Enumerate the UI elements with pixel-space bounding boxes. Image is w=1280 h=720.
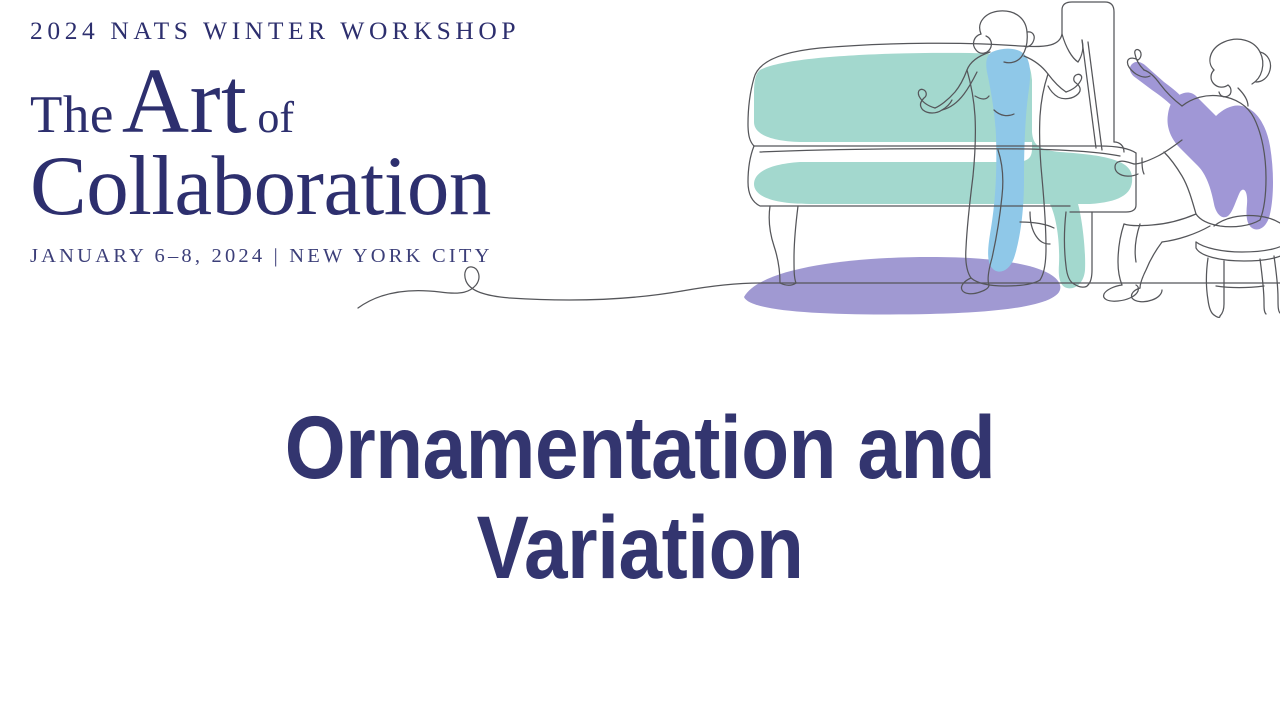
piano-pedal-lyre [1030, 212, 1050, 244]
singer-face [1024, 32, 1034, 47]
pianist-sleeve-fill [1130, 62, 1184, 106]
pianist-arm-lower [1134, 140, 1182, 164]
pianist-leg-back [1140, 242, 1162, 288]
pianist-knee-detail [1135, 224, 1140, 262]
piano-lid-prop [1062, 34, 1078, 62]
bench-leg-left-inner [1220, 261, 1224, 316]
word-of: of [257, 93, 294, 142]
pianist-collar [1238, 88, 1248, 106]
pianist-shoe-back [1131, 288, 1162, 302]
pianist-face [1211, 70, 1228, 87]
pianist-jacket-front [1164, 152, 1196, 214]
word-the: The [30, 86, 114, 144]
slide-title-line-2: Variation [77, 498, 1203, 598]
header-band: 2024 NATS WINTER WORKSHOP TheArtof Colla… [0, 0, 1280, 340]
bench-leg-left-foot [1214, 315, 1220, 317]
pianist-hip [1162, 226, 1210, 242]
bench-seat-front [1196, 236, 1280, 252]
piano-body-left [748, 78, 754, 146]
piano-leg-right-inner [1088, 212, 1092, 285]
piano-keybed-line [754, 146, 1136, 153]
word-art: Art [122, 50, 247, 153]
piano-prop-stick-2 [1088, 42, 1102, 150]
bench-leg-right [1274, 256, 1280, 313]
piano-bench [1196, 215, 1280, 317]
piano-pedal [1020, 222, 1054, 228]
slide-canvas: 2024 NATS WINTER WORKSHOP TheArtof Colla… [0, 0, 1280, 720]
piano-leg-left [769, 206, 780, 283]
illustration-singer-and-pianist [330, 0, 1280, 340]
piano-teal-fill [754, 53, 1132, 289]
lead-in-line-with-loop [358, 267, 682, 308]
pianist-cuff [1142, 158, 1144, 174]
singer-dress-fill [986, 49, 1030, 272]
pianist-thigh [1124, 214, 1196, 226]
pianist-jacket-fill [1168, 93, 1274, 230]
bench-stretcher [1216, 286, 1264, 288]
slide-title: Ornamentation and Variation [77, 398, 1203, 597]
pianist-head [1210, 39, 1263, 84]
slide-title-line-1: Ornamentation and [77, 398, 1203, 498]
singer-hand-right [1048, 74, 1082, 98]
piano-prop-stick [1082, 40, 1096, 148]
bench-leg-left [1207, 258, 1215, 315]
color-fills-layer [744, 49, 1273, 315]
pianist-leg-front [1118, 224, 1124, 285]
